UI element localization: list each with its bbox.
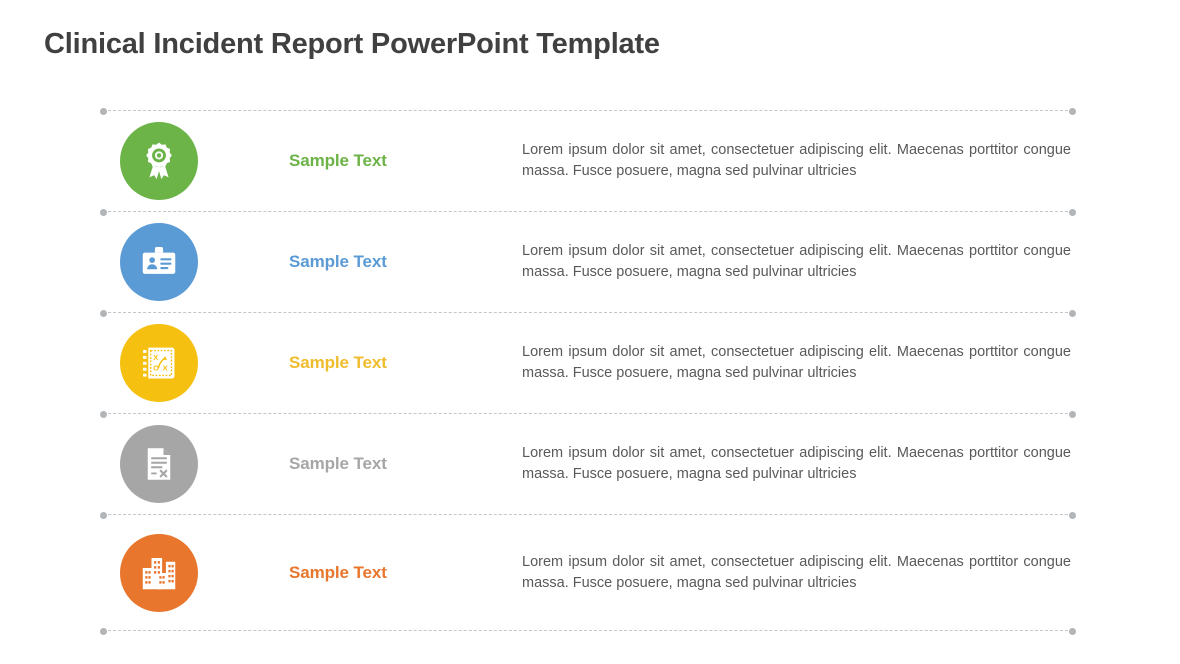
icon-container	[103, 534, 203, 612]
list-item[interactable]: Sample Text Lorem ipsum dolor sit amet, …	[103, 414, 1073, 514]
icon-container	[103, 425, 203, 503]
icon-container	[103, 122, 203, 200]
row-divider	[103, 211, 1073, 212]
document-rejected-icon	[141, 446, 177, 482]
divider-endpoint-right	[1069, 209, 1076, 216]
icon-circle-badge	[120, 223, 198, 301]
divider-endpoint-right	[1069, 310, 1076, 317]
icon-circle-badge	[120, 534, 198, 612]
divider-endpoint-right	[1069, 411, 1076, 418]
list-item-description: Lorem ipsum dolor sit amet, consectetuer…	[418, 140, 1073, 181]
list-item-description: Lorem ipsum dolor sit amet, consectetuer…	[418, 443, 1073, 484]
list-item-description: Lorem ipsum dolor sit amet, consectetuer…	[418, 342, 1073, 383]
icon-container: X O X	[103, 324, 203, 402]
feature-list: Sample Text Lorem ipsum dolor sit amet, …	[103, 110, 1073, 631]
svg-text:X: X	[163, 364, 169, 373]
icon-container	[103, 223, 203, 301]
divider-endpoint-left	[100, 310, 107, 317]
row-divider	[103, 514, 1073, 515]
list-item-label: Sample Text	[203, 454, 418, 474]
divider-endpoint-left	[100, 209, 107, 216]
divider-endpoint-right	[1069, 108, 1076, 115]
row-divider	[103, 110, 1073, 111]
icon-circle-badge	[120, 425, 198, 503]
svg-text:X: X	[153, 353, 159, 362]
id-badge-icon	[139, 242, 179, 282]
row-divider	[103, 312, 1073, 313]
divider-endpoint-right	[1069, 512, 1076, 519]
award-ribbon-icon	[138, 140, 180, 182]
divider-endpoint-left	[100, 108, 107, 115]
list-item[interactable]: Sample Text Lorem ipsum dolor sit amet, …	[103, 515, 1073, 630]
list-item-label: Sample Text	[203, 151, 418, 171]
list-item[interactable]: X O X Sample Text Lorem ipsum	[103, 313, 1073, 413]
list-item[interactable]: Sample Text Lorem ipsum dolor sit amet, …	[103, 212, 1073, 312]
row-divider	[103, 630, 1073, 631]
strategy-playbook-icon: X O X	[140, 344, 178, 382]
icon-circle-badge: X O X	[120, 324, 198, 402]
list-item-label: Sample Text	[203, 563, 418, 583]
slide-canvas: Clinical Incident Report PowerPoint Temp…	[0, 0, 1180, 664]
divider-endpoint-right	[1069, 628, 1076, 635]
page-title: Clinical Incident Report PowerPoint Temp…	[44, 28, 660, 61]
list-item-label: Sample Text	[203, 252, 418, 272]
list-item-description: Lorem ipsum dolor sit amet, consectetuer…	[418, 241, 1073, 282]
row-divider	[103, 413, 1073, 414]
divider-endpoint-left	[100, 411, 107, 418]
list-item[interactable]: Sample Text Lorem ipsum dolor sit amet, …	[103, 111, 1073, 211]
icon-circle-badge	[120, 122, 198, 200]
divider-endpoint-left	[100, 512, 107, 519]
list-item-label: Sample Text	[203, 353, 418, 373]
list-item-description: Lorem ipsum dolor sit amet, consectetuer…	[418, 552, 1073, 593]
divider-endpoint-left	[100, 628, 107, 635]
buildings-city-icon	[139, 553, 179, 593]
